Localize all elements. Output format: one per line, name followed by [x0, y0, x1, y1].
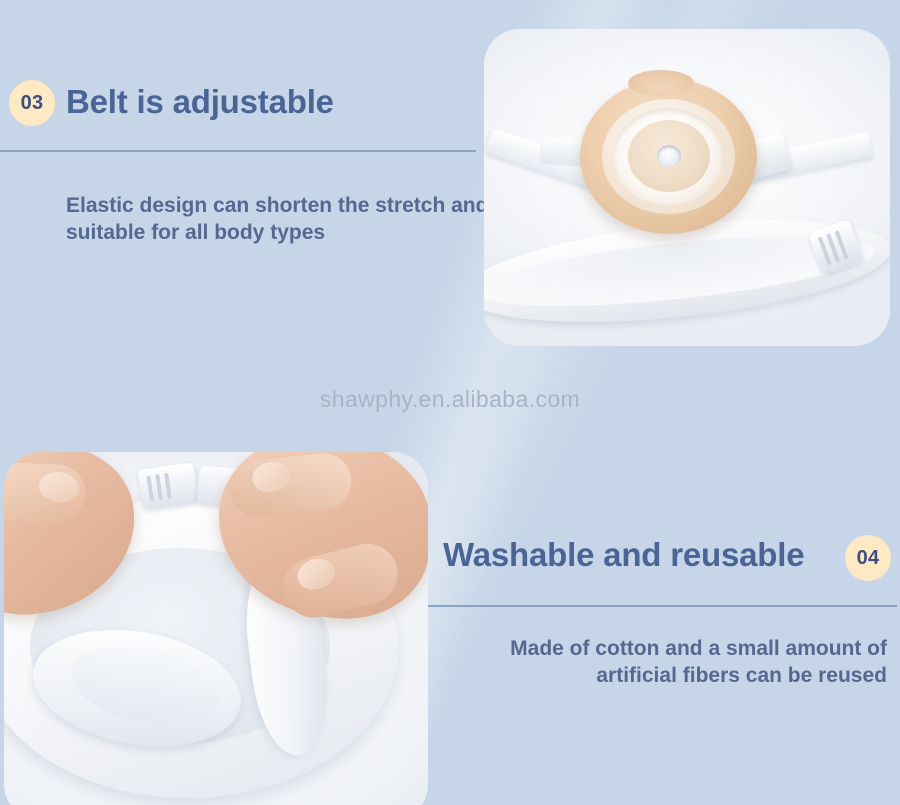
section-body-04: Made of cotton and a small amount of art… [447, 636, 887, 690]
belt-clip-left [137, 462, 198, 509]
section-divider-04 [427, 605, 897, 607]
badge-number-text: 03 [21, 92, 44, 115]
finger-right-upper [227, 452, 354, 519]
site-watermark: shawphy.en.alibaba.com [0, 386, 900, 413]
section-divider-03 [0, 150, 476, 152]
wafer-tab-notch [628, 70, 694, 96]
section-heading-04: Washable and reusable [443, 536, 804, 574]
product-feature-banner: 03 Belt is adjustable Elastic design can… [0, 0, 900, 805]
ostomy-baseplate-with-belt-photo [484, 29, 890, 346]
section-heading-03: Belt is adjustable [66, 83, 334, 121]
hands-stretching-belt-photo [4, 452, 428, 805]
section-number-badge-04: 04 [845, 535, 891, 581]
wafer-center-hole [657, 145, 681, 167]
ostomy-baseplate-wafer [580, 79, 757, 234]
section-number-badge-03: 03 [9, 80, 55, 126]
badge-number-text: 04 [857, 547, 880, 570]
